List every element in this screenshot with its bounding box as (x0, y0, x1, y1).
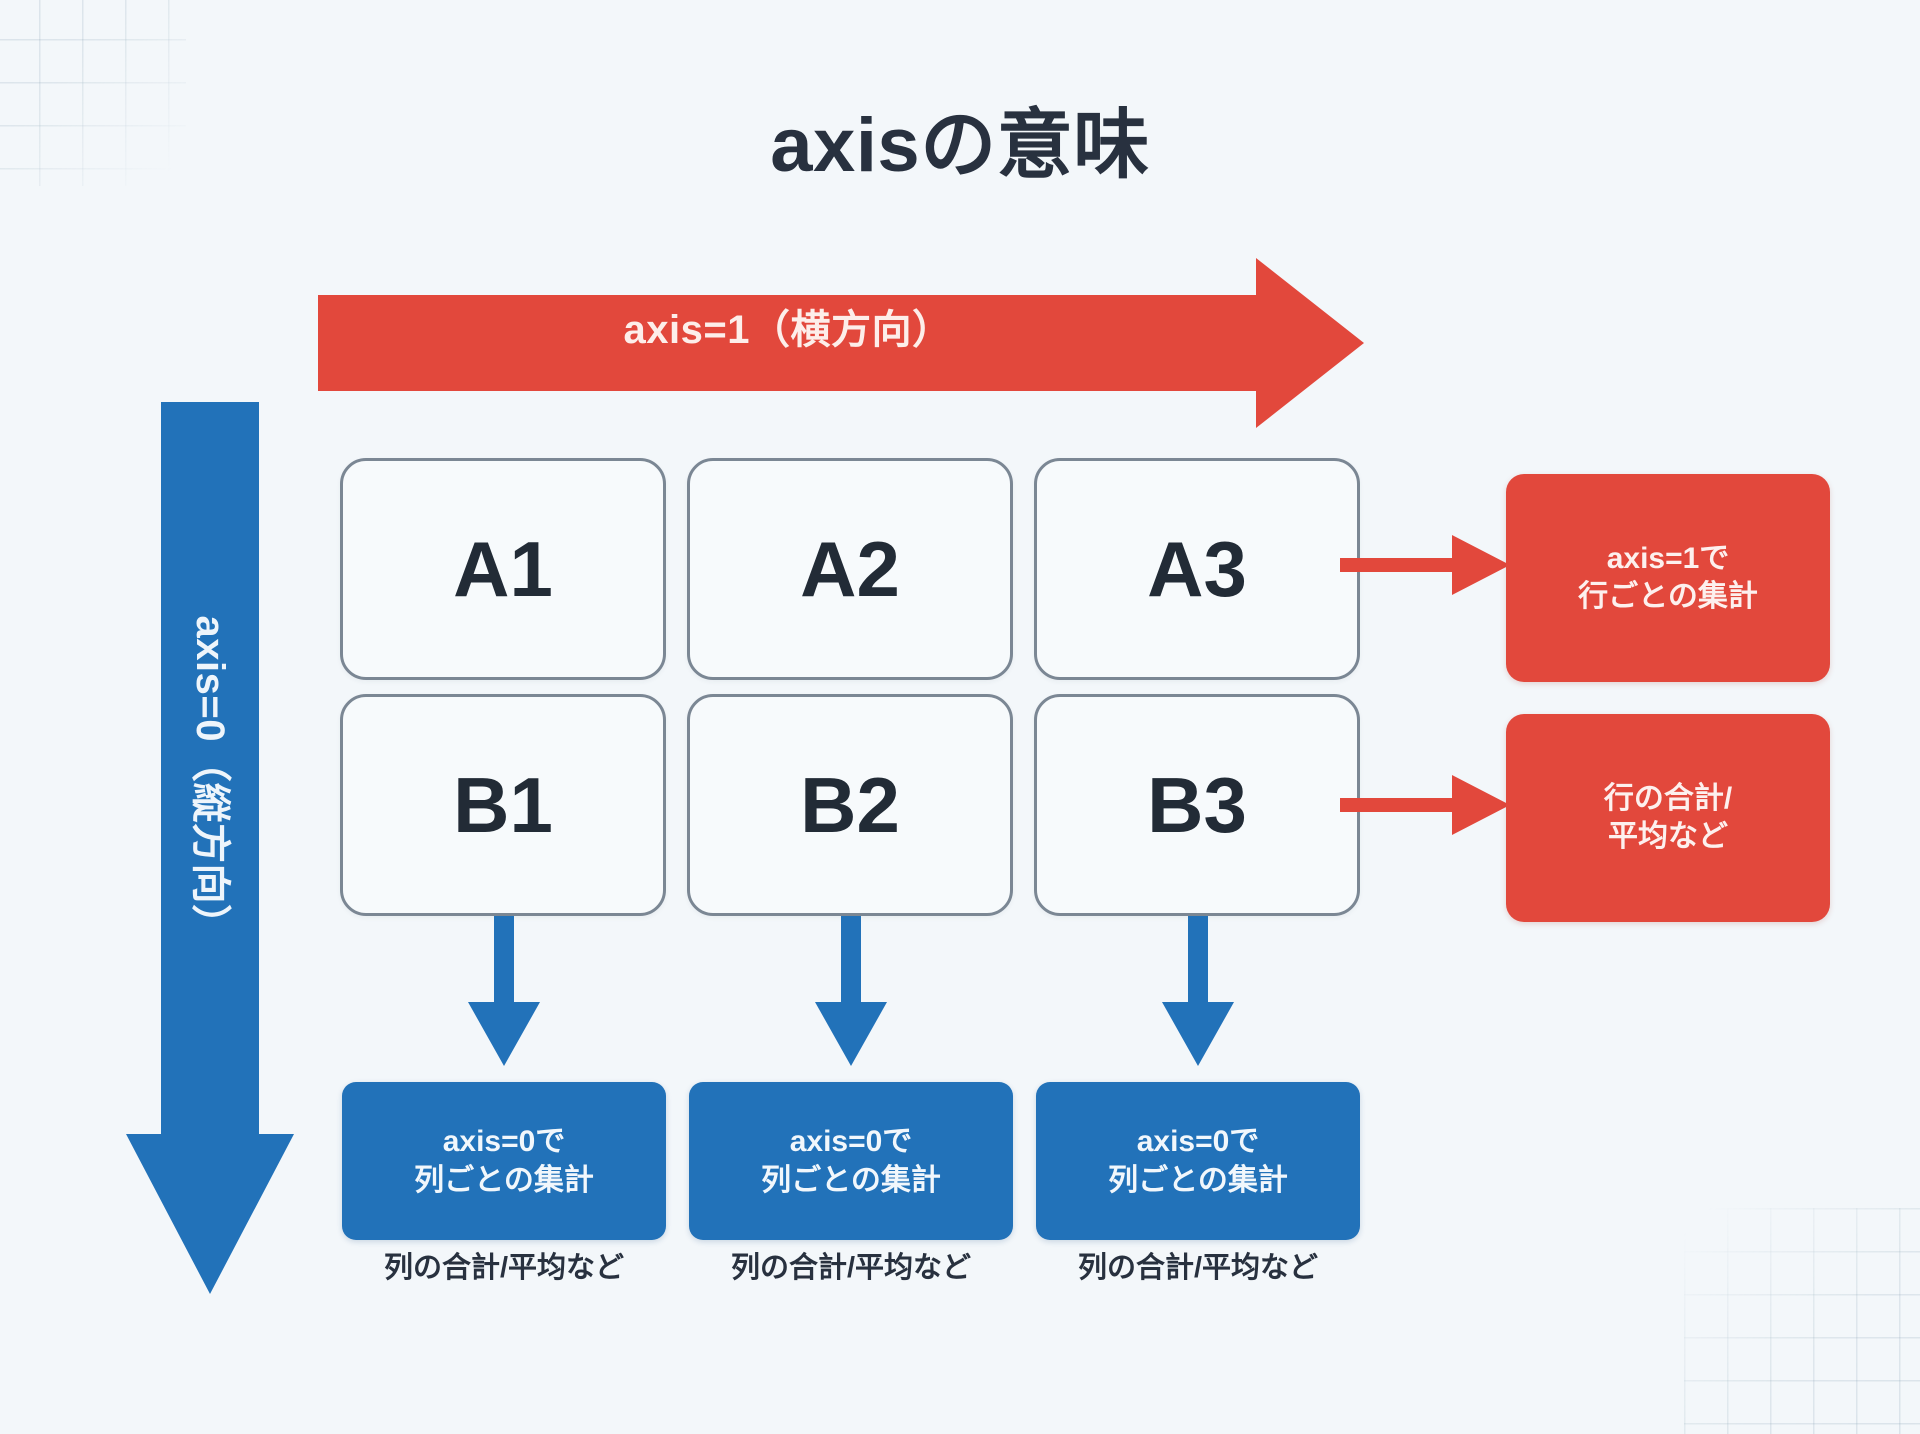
column-aggregate-box-3-line2: 列ごとの集計 (1108, 1161, 1288, 1200)
column-aggregate-arrow-3 (1160, 916, 1236, 1066)
grid-cell-a3[interactable]: A3 (1034, 458, 1360, 680)
grid-cell-b3[interactable]: B3 (1034, 694, 1360, 916)
column-aggregate-arrow-1 (466, 916, 542, 1066)
row-aggregate-box-2-line1: 行の合計/ (1604, 780, 1732, 818)
row-aggregate-box-1-line2: 行ごとの集計 (1578, 578, 1758, 616)
column-aggregate-box-1-line2: 列ごとの集計 (414, 1161, 594, 1200)
grid-cell-b1[interactable]: B1 (340, 694, 666, 916)
column-aggregate-box-3[interactable]: axis=0で 列ごとの集計 (1036, 1082, 1360, 1240)
column-aggregate-arrow-2 (813, 916, 889, 1066)
column-caption-3: 列の合計/平均など (1036, 1254, 1360, 1283)
row-aggregate-box-1-line1: axis=1で (1607, 540, 1730, 578)
axis0-arrow-label: axis=0（縦方向） (190, 470, 230, 1090)
grid-cell-a2[interactable]: A2 (687, 458, 1013, 680)
row-aggregate-arrow-2 (1340, 773, 1510, 837)
column-aggregate-box-2-line2: 列ごとの集計 (761, 1161, 941, 1200)
column-aggregate-box-1-line1: axis=0で (443, 1122, 566, 1161)
row-aggregate-box-2-line2: 平均など (1608, 818, 1728, 856)
row-aggregate-box-2[interactable]: 行の合計/ 平均など (1506, 714, 1830, 922)
page-title: axisの意味 (0, 108, 1920, 184)
column-aggregate-box-2-line1: axis=0で (790, 1122, 913, 1161)
grid-cell-a1[interactable]: A1 (340, 458, 666, 680)
column-aggregate-box-2[interactable]: axis=0で 列ごとの集計 (689, 1082, 1013, 1240)
slide-canvas: axisの意味 axis=1（横方向） axis=0（縦方向） A1 A2 A3… (0, 0, 1920, 1434)
column-aggregate-box-1[interactable]: axis=0で 列ごとの集計 (342, 1082, 666, 1240)
grid-cell-b2[interactable]: B2 (687, 694, 1013, 916)
column-caption-2: 列の合計/平均など (689, 1254, 1013, 1283)
background-grid-bottom-right (1684, 1208, 1920, 1434)
column-caption-1: 列の合計/平均など (342, 1254, 666, 1283)
row-aggregate-box-1[interactable]: axis=1で 行ごとの集計 (1506, 474, 1830, 682)
column-aggregate-box-3-line1: axis=0で (1137, 1122, 1260, 1161)
row-aggregate-arrow-1 (1340, 533, 1510, 597)
axis1-arrow-label: axis=1（横方向） (318, 310, 1258, 350)
